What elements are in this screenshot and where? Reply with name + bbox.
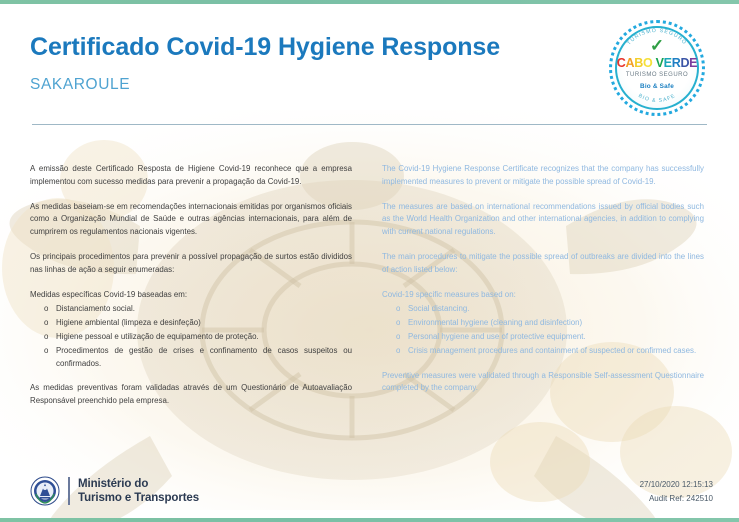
pt-paragraph-2: As medidas baseiam-se em recomendações i… xyxy=(30,201,352,239)
seal-tagline-secondary: Bio & Safe xyxy=(609,83,705,90)
en-paragraph-4: Preventive measures were validated throu… xyxy=(382,370,704,396)
ministry-logo-divider xyxy=(68,477,70,505)
list-item: Crisis management procedures and contain… xyxy=(396,345,704,358)
pt-measures-list: Distanciamento social. Higiene ambiental… xyxy=(30,303,352,370)
list-item: Environmental hygiene (cleaning and disi… xyxy=(396,317,704,330)
certificate-content: Certificado Covid-19 Hygiene Response SA… xyxy=(0,0,739,522)
certificate-page: Certificado Covid-19 Hygiene Response SA… xyxy=(0,0,739,522)
list-item: Social distancing. xyxy=(396,303,704,316)
english-column: The Covid-19 Hygiene Response Certificat… xyxy=(382,163,704,420)
list-item: Procedimentos de gestão de crises e conf… xyxy=(44,345,352,371)
en-paragraph-3: The main procedures to mitigate the poss… xyxy=(382,251,704,277)
ministry-name: Ministério do Turismo e Transportes xyxy=(78,477,199,505)
pt-paragraph-1: A emissão deste Certificado Resposta de … xyxy=(30,163,352,189)
certificate-footer: Ministério do Turismo e Transportes 27/1… xyxy=(30,476,713,506)
portuguese-column: A emissão deste Certificado Resposta de … xyxy=(30,163,352,420)
list-item: Distanciamento social. xyxy=(44,303,352,316)
ministry-emblem-icon xyxy=(30,476,60,506)
top-accent-bar xyxy=(0,0,739,4)
ministry-name-line1: Ministério do xyxy=(78,477,199,491)
body-columns: A emissão deste Certificado Resposta de … xyxy=(30,125,713,420)
list-item: Higiene ambiental (limpeza e desinfeção) xyxy=(44,317,352,330)
list-item: Personal hygiene and use of protective e… xyxy=(396,331,704,344)
list-item: Higiene pessoal e utilização de equipame… xyxy=(44,331,352,344)
ministry-name-line2: Turismo e Transportes xyxy=(78,491,199,505)
en-paragraph-1: The Covid-19 Hygiene Response Certificat… xyxy=(382,163,704,189)
en-measures-list: Social distancing. Environmental hygiene… xyxy=(382,303,704,357)
seal-tagline-primary: TURISMO SEGURO xyxy=(609,72,705,78)
pt-paragraph-3: Os principais procedimentos para preveni… xyxy=(30,251,352,277)
bottom-accent-bar xyxy=(0,518,739,522)
pt-list-intro: Medidas específicas Covid-19 baseadas em… xyxy=(30,289,352,302)
audit-reference: Audit Ref: 242510 xyxy=(640,492,713,506)
ministry-logo: Ministério do Turismo e Transportes xyxy=(30,476,199,506)
timestamp: 27/10/2020 12:15:13 xyxy=(640,478,713,492)
pt-paragraph-4: As medidas preventivas foram validadas a… xyxy=(30,382,352,408)
certificate-header: Certificado Covid-19 Hygiene Response SA… xyxy=(30,22,713,118)
cabo-verde-seal: TURISMO SEGURO BIO & SAFE ✓ CABO VERDE T… xyxy=(609,20,705,116)
audit-info: 27/10/2020 12:15:13 Audit Ref: 242510 xyxy=(640,478,713,506)
check-icon: ✓ xyxy=(609,37,705,54)
en-paragraph-2: The measures are based on international … xyxy=(382,201,704,239)
en-list-intro: Covid-19 specific measures based on: xyxy=(382,289,704,302)
seal-brand-text: CABO VERDE xyxy=(609,57,705,70)
svg-text:BIO & SAFE: BIO & SAFE xyxy=(637,93,677,104)
